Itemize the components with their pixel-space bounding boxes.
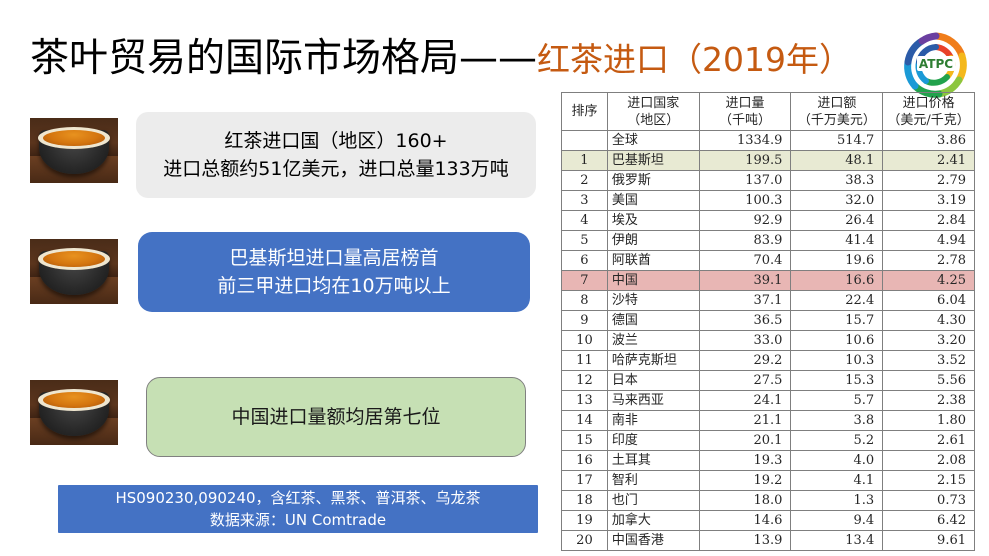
cell-country: 土耳其 bbox=[607, 451, 699, 471]
cell-country: 日本 bbox=[607, 371, 699, 391]
cell-price: 2.08 bbox=[883, 451, 975, 471]
cell-rank: 8 bbox=[562, 291, 608, 311]
callout-source-line2: 数据来源：UN Comtrade bbox=[115, 509, 480, 531]
cell-volume: 19.3 bbox=[699, 451, 791, 471]
cell-rank: 9 bbox=[562, 311, 608, 331]
cell-rank: 4 bbox=[562, 211, 608, 231]
cell-value: 4.0 bbox=[791, 451, 883, 471]
table-row: 13马来西亚24.15.72.38 bbox=[562, 391, 975, 411]
cell-volume: 27.5 bbox=[699, 371, 791, 391]
col-header-volume: 进口量 （千吨） bbox=[699, 93, 791, 131]
table-header: 排序 进口国家 （地区） 进口量 （千吨） 进口额 （千万美元） 进口价格 （美… bbox=[562, 93, 975, 131]
table-row: 19加拿大14.69.46.42 bbox=[562, 511, 975, 531]
cell-volume: 137.0 bbox=[699, 171, 791, 191]
callout-pakistan-line1: 巴基斯坦进口量高居榜首 bbox=[217, 244, 450, 272]
cell-price: 6.42 bbox=[883, 511, 975, 531]
callout-overview-line2: 进口总额约51亿美元，进口总量133万吨 bbox=[163, 155, 508, 183]
cell-rank: 6 bbox=[562, 251, 608, 271]
table-row: 6阿联酋70.419.62.78 bbox=[562, 251, 975, 271]
cell-value: 13.4 bbox=[791, 531, 883, 551]
cell-value: 5.7 bbox=[791, 391, 883, 411]
trade-table: 排序 进口国家 （地区） 进口量 （千吨） 进口额 （千万美元） 进口价格 （美… bbox=[561, 92, 975, 551]
cell-rank: 10 bbox=[562, 331, 608, 351]
cell-price: 5.56 bbox=[883, 371, 975, 391]
tea-liquid bbox=[43, 392, 105, 408]
black-tea-import-table: 排序 进口国家 （地区） 进口量 （千吨） 进口额 （千万美元） 进口价格 （美… bbox=[561, 92, 975, 551]
table-row: 17智利19.24.12.15 bbox=[562, 471, 975, 491]
cell-rank: 17 bbox=[562, 471, 608, 491]
cell-price: 2.78 bbox=[883, 251, 975, 271]
table-row: 15印度20.15.22.61 bbox=[562, 431, 975, 451]
cell-value: 10.6 bbox=[791, 331, 883, 351]
cell-value: 5.2 bbox=[791, 431, 883, 451]
col-header-rank: 排序 bbox=[562, 93, 608, 131]
cell-price: 3.20 bbox=[883, 331, 975, 351]
table-body: 全球1334.9514.73.861巴基斯坦199.548.12.412俄罗斯1… bbox=[562, 131, 975, 551]
cell-volume: 18.0 bbox=[699, 491, 791, 511]
cell-country: 全球 bbox=[607, 131, 699, 151]
table-header-row: 排序 进口国家 （地区） 进口量 （千吨） 进口额 （千万美元） 进口价格 （美… bbox=[562, 93, 975, 131]
cell-value: 32.0 bbox=[791, 191, 883, 211]
cell-country: 伊朗 bbox=[607, 231, 699, 251]
cell-country: 也门 bbox=[607, 491, 699, 511]
cell-volume: 21.1 bbox=[699, 411, 791, 431]
cell-country: 马来西亚 bbox=[607, 391, 699, 411]
cell-volume: 92.9 bbox=[699, 211, 791, 231]
cell-volume: 13.9 bbox=[699, 531, 791, 551]
cell-country: 中国香港 bbox=[607, 531, 699, 551]
cell-country: 南非 bbox=[607, 411, 699, 431]
page-title-accent: 红茶进口（2019年） bbox=[537, 40, 852, 79]
cell-rank: 11 bbox=[562, 351, 608, 371]
table-row: 14南非21.13.81.80 bbox=[562, 411, 975, 431]
cell-value: 1.3 bbox=[791, 491, 883, 511]
table-row: 8沙特37.122.46.04 bbox=[562, 291, 975, 311]
cell-price: 1.80 bbox=[883, 411, 975, 431]
callout-pakistan-line2: 前三甲进口均在10万吨以上 bbox=[217, 272, 450, 300]
cell-volume: 20.1 bbox=[699, 431, 791, 451]
cell-country: 埃及 bbox=[607, 211, 699, 231]
cell-country: 美国 bbox=[607, 191, 699, 211]
cell-country: 中国 bbox=[607, 271, 699, 291]
cell-value: 15.3 bbox=[791, 371, 883, 391]
cell-volume: 83.9 bbox=[699, 231, 791, 251]
cell-rank: 16 bbox=[562, 451, 608, 471]
callout-overview-line1: 红茶进口国（地区）160+ bbox=[163, 127, 508, 155]
callout-china-line1: 中国进口量额均居第七位 bbox=[231, 403, 440, 431]
table-row: 3美国100.332.03.19 bbox=[562, 191, 975, 211]
cell-volume: 1334.9 bbox=[699, 131, 791, 151]
cell-price: 2.84 bbox=[883, 211, 975, 231]
cell-value: 26.4 bbox=[791, 211, 883, 231]
cell-price: 2.38 bbox=[883, 391, 975, 411]
cell-rank: 7 bbox=[562, 271, 608, 291]
cell-rank: 18 bbox=[562, 491, 608, 511]
table-row: 20中国香港13.913.49.61 bbox=[562, 531, 975, 551]
atpc-logo: ATPC bbox=[899, 28, 973, 102]
cell-price: 0.73 bbox=[883, 491, 975, 511]
cell-value: 19.6 bbox=[791, 251, 883, 271]
cell-value: 22.4 bbox=[791, 291, 883, 311]
col-header-country: 进口国家 （地区） bbox=[607, 93, 699, 131]
cell-country: 德国 bbox=[607, 311, 699, 331]
cell-value: 3.8 bbox=[791, 411, 883, 431]
cell-volume: 33.0 bbox=[699, 331, 791, 351]
cell-rank: 19 bbox=[562, 511, 608, 531]
cell-country: 哈萨克斯坦 bbox=[607, 351, 699, 371]
cell-volume: 37.1 bbox=[699, 291, 791, 311]
table-row: 12日本27.515.35.56 bbox=[562, 371, 975, 391]
cell-price: 6.04 bbox=[883, 291, 975, 311]
table-row: 9德国36.515.74.30 bbox=[562, 311, 975, 331]
table-row: 7中国39.116.64.25 bbox=[562, 271, 975, 291]
table-row: 全球1334.9514.73.86 bbox=[562, 131, 975, 151]
cell-rank: 12 bbox=[562, 371, 608, 391]
cell-rank: 2 bbox=[562, 171, 608, 191]
cell-country: 智利 bbox=[607, 471, 699, 491]
table-row: 2俄罗斯137.038.32.79 bbox=[562, 171, 975, 191]
cell-volume: 19.2 bbox=[699, 471, 791, 491]
callout-import-overview: 红茶进口国（地区）160+ 进口总额约51亿美元，进口总量133万吨 bbox=[136, 112, 536, 198]
cell-price: 2.61 bbox=[883, 431, 975, 451]
cell-value: 9.4 bbox=[791, 511, 883, 531]
cell-country: 印度 bbox=[607, 431, 699, 451]
atpc-logo-text: ATPC bbox=[919, 57, 953, 71]
cell-value: 16.6 bbox=[791, 271, 883, 291]
cell-price: 2.79 bbox=[883, 171, 975, 191]
cell-rank bbox=[562, 131, 608, 151]
tea-liquid bbox=[43, 251, 105, 267]
cell-price: 3.86 bbox=[883, 131, 975, 151]
callout-pakistan-top: 巴基斯坦进口量高居榜首 前三甲进口均在10万吨以上 bbox=[138, 232, 530, 312]
cell-value: 514.7 bbox=[791, 131, 883, 151]
cell-volume: 36.5 bbox=[699, 311, 791, 331]
cell-value: 15.7 bbox=[791, 311, 883, 331]
cell-value: 10.3 bbox=[791, 351, 883, 371]
callout-china-rank: 中国进口量额均居第七位 bbox=[146, 377, 526, 457]
cell-rank: 5 bbox=[562, 231, 608, 251]
cell-rank: 3 bbox=[562, 191, 608, 211]
cell-volume: 24.1 bbox=[699, 391, 791, 411]
cell-rank: 13 bbox=[562, 391, 608, 411]
cell-price: 2.15 bbox=[883, 471, 975, 491]
table-row: 16土耳其19.34.02.08 bbox=[562, 451, 975, 471]
table-row: 4埃及92.926.42.84 bbox=[562, 211, 975, 231]
cell-price: 3.19 bbox=[883, 191, 975, 211]
cell-rank: 14 bbox=[562, 411, 608, 431]
cell-country: 阿联酋 bbox=[607, 251, 699, 271]
table-row: 10波兰33.010.63.20 bbox=[562, 331, 975, 351]
cell-value: 38.3 bbox=[791, 171, 883, 191]
cell-country: 俄罗斯 bbox=[607, 171, 699, 191]
page-title-main: 茶叶贸易的国际市场格局—— bbox=[30, 36, 537, 81]
tea-liquid bbox=[43, 130, 105, 146]
cell-value: 4.1 bbox=[791, 471, 883, 491]
cell-price: 4.30 bbox=[883, 311, 975, 331]
tea-bowl-photo-2 bbox=[30, 239, 118, 304]
cell-volume: 29.2 bbox=[699, 351, 791, 371]
tea-bowl-photo-3 bbox=[30, 380, 118, 445]
tea-bowl-photo-1 bbox=[30, 118, 118, 183]
cell-rank: 15 bbox=[562, 431, 608, 451]
cell-volume: 14.6 bbox=[699, 511, 791, 531]
table-row: 11哈萨克斯坦29.210.33.52 bbox=[562, 351, 975, 371]
cell-country: 巴基斯坦 bbox=[607, 151, 699, 171]
table-row: 18也门18.01.30.73 bbox=[562, 491, 975, 511]
callout-data-source: HS090230,090240，含红茶、黑茶、普洱茶、乌龙茶 数据来源：UN C… bbox=[58, 485, 538, 533]
cell-price: 4.94 bbox=[883, 231, 975, 251]
cell-country: 沙特 bbox=[607, 291, 699, 311]
cell-country: 波兰 bbox=[607, 331, 699, 351]
cell-volume: 100.3 bbox=[699, 191, 791, 211]
cell-volume: 199.5 bbox=[699, 151, 791, 171]
cell-country: 加拿大 bbox=[607, 511, 699, 531]
cell-rank: 1 bbox=[562, 151, 608, 171]
cell-volume: 70.4 bbox=[699, 251, 791, 271]
cell-volume: 39.1 bbox=[699, 271, 791, 291]
page-title: 茶叶贸易的国际市场格局——红茶进口（2019年） bbox=[30, 28, 910, 90]
cell-price: 3.52 bbox=[883, 351, 975, 371]
table-row: 1巴基斯坦199.548.12.41 bbox=[562, 151, 975, 171]
cell-value: 48.1 bbox=[791, 151, 883, 171]
col-header-value: 进口额 （千万美元） bbox=[791, 93, 883, 131]
table-row: 5伊朗83.941.44.94 bbox=[562, 231, 975, 251]
cell-price: 2.41 bbox=[883, 151, 975, 171]
cell-price: 9.61 bbox=[883, 531, 975, 551]
cell-rank: 20 bbox=[562, 531, 608, 551]
col-header-price: 进口价格 （美元/千克） bbox=[883, 93, 975, 131]
callout-source-line1: HS090230,090240，含红茶、黑茶、普洱茶、乌龙茶 bbox=[115, 487, 480, 509]
cell-value: 41.4 bbox=[791, 231, 883, 251]
cell-price: 4.25 bbox=[883, 271, 975, 291]
